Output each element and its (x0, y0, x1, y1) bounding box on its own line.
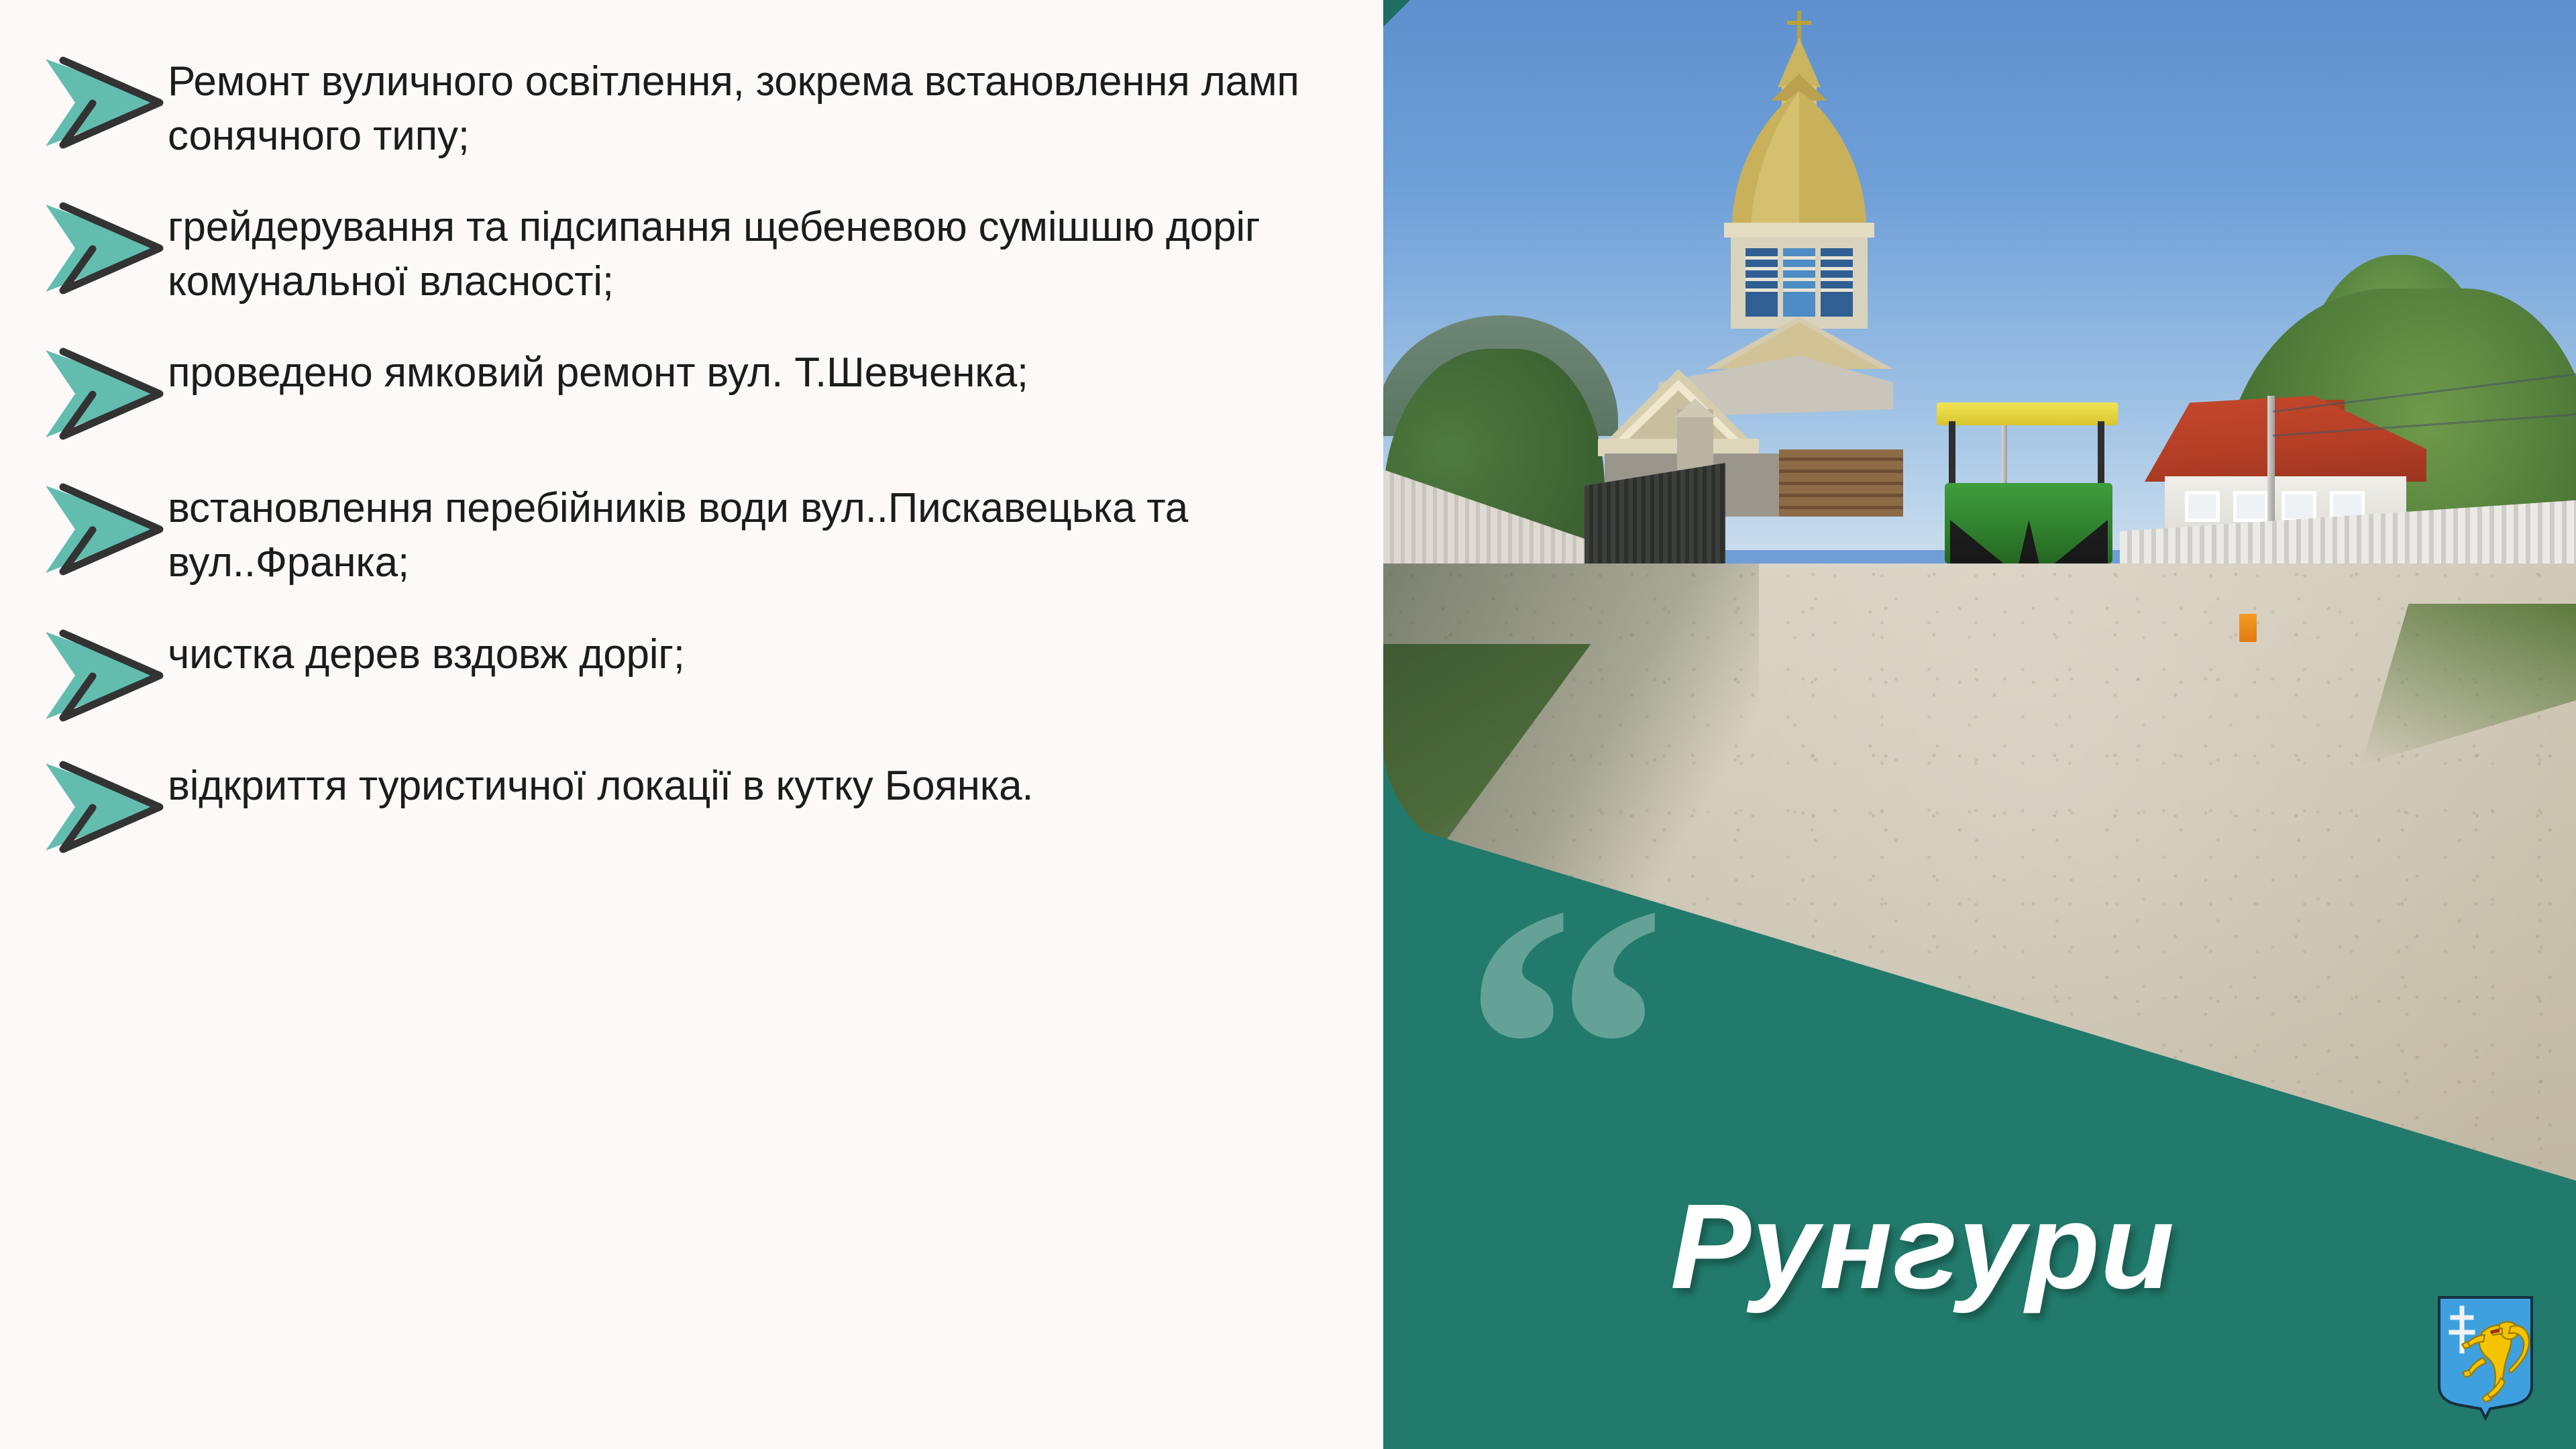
list-item: відкриття туристичної локації в кутку Бо… (40, 753, 1342, 857)
list-item: Ремонт вуличного освітлення, зокрема вст… (40, 48, 1342, 163)
slide-root: Ремонт вуличного освітлення, зокрема вст… (0, 0, 2576, 1449)
chevron-arrow-right-icon (40, 52, 168, 153)
wooden-church-icon (1578, 7, 1953, 517)
bullet-list: Ремонт вуличного освітлення, зокрема вст… (0, 0, 1382, 1449)
list-item: чистка дерев вздовж доріг; (40, 621, 1342, 726)
paver-canopy (1937, 402, 2118, 425)
list-item: грейдерування та підсипання щебеневою су… (40, 194, 1342, 309)
house-window (2282, 491, 2316, 522)
list-item-label: відкриття туристичної локації в кутку Бо… (168, 753, 1308, 814)
list-item-label: проведено ямковий ремонт вул. Т.Шевченка… (168, 339, 1308, 400)
list-item-label: грейдерування та підсипання щебеневою су… (168, 194, 1308, 309)
chevron-arrow-right-icon (40, 343, 168, 444)
house-window (2233, 491, 2268, 522)
coat-of-arms-icon (2435, 1293, 2536, 1421)
list-item: проведено ямковий ремонт вул. Т.Шевченка… (40, 339, 1342, 444)
list-item: встановлення перебійників води вул..Писк… (40, 475, 1342, 590)
list-item-label: встановлення перебійників води вул..Писк… (168, 475, 1308, 590)
chevron-arrow-right-icon (40, 757, 168, 857)
list-item-label: чистка дерев вздовж доріг; (168, 621, 1308, 682)
house-window (2185, 491, 2220, 522)
village-photo: “ Рунгури (1383, 0, 2576, 1449)
traffic-cone (2239, 614, 2257, 642)
chevron-arrow-right-icon (40, 198, 168, 299)
chevron-arrow-right-icon (40, 479, 168, 580)
page-title: Рунгури (1383, 1177, 2576, 1316)
list-item-label: Ремонт вуличного освітлення, зокрема вст… (168, 48, 1308, 163)
chevron-arrow-right-icon (40, 625, 168, 726)
